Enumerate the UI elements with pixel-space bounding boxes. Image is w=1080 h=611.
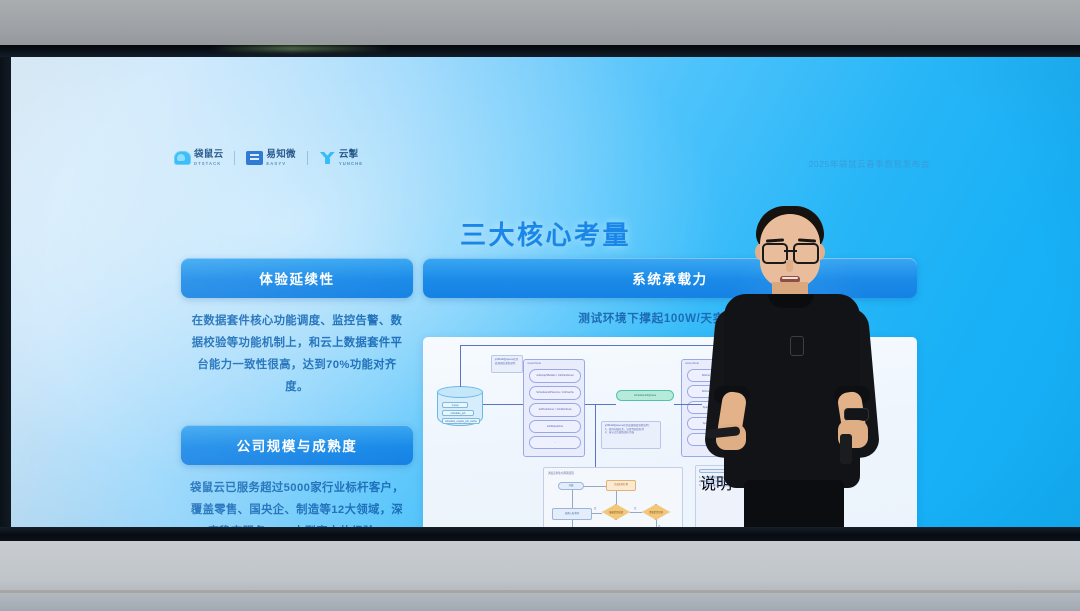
note-master-title: jobBuild的queue任务处理调度流程说明： bbox=[495, 358, 518, 365]
logo-easyv-cn: 易知微 bbox=[266, 150, 295, 160]
cloud-logo-icon bbox=[174, 151, 191, 165]
flow-link-1 bbox=[584, 486, 606, 487]
database-cylinder: mysql schedule_job schedule_engine_job_c… bbox=[437, 386, 483, 430]
slide-title: 三大核心考量 bbox=[11, 215, 1080, 252]
logo-bar: 袋鼠云 DTSTACK 易知微 EASYV 云掣 bbox=[174, 150, 363, 166]
flow-node-start: 开始 bbox=[558, 482, 584, 490]
card-body-experience: 在数据套件核心功能调度、监控告警、数据校验等功能机制上，和云上数据套件平台能力一… bbox=[181, 310, 413, 398]
screen-vignette bbox=[11, 57, 1080, 528]
flow-link-3 bbox=[592, 513, 602, 514]
presentation-screen: 袋鼠云 DTSTACK 易知微 EASYV 云掣 bbox=[11, 57, 1080, 528]
link-master-queue bbox=[585, 404, 616, 405]
lapel-microphone bbox=[790, 336, 804, 356]
lifecycle-flowchart: 调度实例生命周期流程 开始 生成实例计划 实例入队等待 提交执行 结束 状态回写… bbox=[543, 467, 683, 528]
note-mid-line-2: 2、按节点负载路由执行器 bbox=[605, 431, 657, 435]
master-item-1: JobGraphBuilder / JobPartitioner bbox=[529, 369, 581, 383]
photo-scene: 袋鼠云 DTSTACK 易知微 EASYV 云掣 bbox=[0, 0, 1080, 611]
flow-link-4 bbox=[630, 512, 642, 513]
logo-yunche-cn: 云掣 bbox=[339, 150, 363, 160]
master-item-5: ... bbox=[529, 436, 581, 449]
flow-node-queue: 实例入队等待 bbox=[552, 508, 592, 520]
flow-decision-1: 依赖是否就绪 bbox=[602, 504, 630, 520]
note-mid-line-1: 1、轮询扫描任务，分发到调度队列 bbox=[605, 428, 657, 432]
db-table-1: schedule_job bbox=[442, 410, 474, 416]
logo-divider-1 bbox=[234, 151, 235, 165]
master-item-4: JobDispatcher bbox=[529, 420, 581, 433]
link-db-master bbox=[483, 404, 523, 405]
master-item-3: JobPartitioner / JobDistribute bbox=[529, 403, 581, 417]
logo-divider-2 bbox=[307, 151, 308, 165]
logo-yunche: 云掣 YUNCHE bbox=[319, 150, 363, 166]
event-tag: 2025年袋鼠云春季数智发布会 bbox=[809, 158, 930, 170]
worker-node-label: workerNode bbox=[685, 362, 699, 365]
logo-easyv-en: EASYV bbox=[266, 162, 295, 166]
master-node-label: masterNode bbox=[527, 362, 541, 365]
db-title: mysql bbox=[442, 402, 468, 408]
logo-dtstack: 袋鼠云 DTSTACK bbox=[174, 150, 223, 166]
logo-easyv: 易知微 EASYV bbox=[246, 150, 295, 166]
card-heading-scale: 公司规模与成熟度 bbox=[181, 425, 413, 465]
flow-link-2 bbox=[572, 490, 573, 508]
flow-title: 调度实例生命周期流程 bbox=[548, 471, 574, 475]
column-gap bbox=[181, 398, 413, 425]
flow-label-1: 是 bbox=[594, 506, 596, 510]
card-body-scale: 袋鼠云已服务超过5000家行业标杆客户，覆盖零售、国央企、制造等12大领域，深度… bbox=[181, 477, 413, 528]
master-item-2: ScheduleJobService / JobCache bbox=[529, 386, 581, 400]
logo-yunche-en: YUNCHE bbox=[339, 162, 363, 166]
note-master: jobBuild的queue任务处理调度流程说明： bbox=[491, 355, 523, 373]
cylinder-body bbox=[437, 392, 483, 426]
flow-label-2: 否 bbox=[634, 506, 636, 510]
master-node-group: masterNode JobGraphBuilder / JobPartitio… bbox=[523, 359, 585, 457]
link-top-left-drop bbox=[460, 345, 461, 387]
room-wall-upper bbox=[0, 0, 1080, 47]
handheld-device bbox=[840, 434, 852, 464]
logo-dtstack-en: DTSTACK bbox=[194, 162, 223, 166]
card-heading-experience: 体验延续性 bbox=[181, 258, 413, 298]
flow-link-9 bbox=[616, 491, 617, 504]
slide: 袋鼠云 DTSTACK 易知微 EASYV 云掣 bbox=[11, 57, 1080, 528]
flow-decision-2: 资源是否足够 bbox=[642, 504, 670, 520]
glasses-icon bbox=[762, 243, 819, 260]
nose bbox=[786, 260, 793, 272]
flow-node-plan: 生成实例计划 bbox=[606, 480, 636, 491]
logo-dtstack-cn: 袋鼠云 bbox=[194, 150, 223, 160]
easyv-logo-icon bbox=[246, 151, 263, 165]
cylinder-top bbox=[437, 386, 483, 398]
room-wall-lower bbox=[0, 541, 1080, 611]
shirt-collar bbox=[768, 294, 814, 308]
db-table-2: schedule_engine_job_cache bbox=[442, 418, 480, 424]
left-column: 体验延续性 在数据套件核心功能调度、监控告警、数据校验等功能机制上，和云上数据套… bbox=[181, 258, 413, 528]
link-queue-drop bbox=[595, 404, 596, 494]
link-queue-worker bbox=[674, 404, 702, 405]
note-mid-title: jobBuild的queue任务处理调度流程说明： bbox=[605, 424, 657, 428]
note-mid: jobBuild的queue任务处理调度流程说明： 1、轮询扫描任务，分发到调度… bbox=[601, 421, 661, 449]
yunche-logo-icon bbox=[319, 151, 336, 165]
queue-node: scheduleJobQueue bbox=[616, 390, 674, 401]
